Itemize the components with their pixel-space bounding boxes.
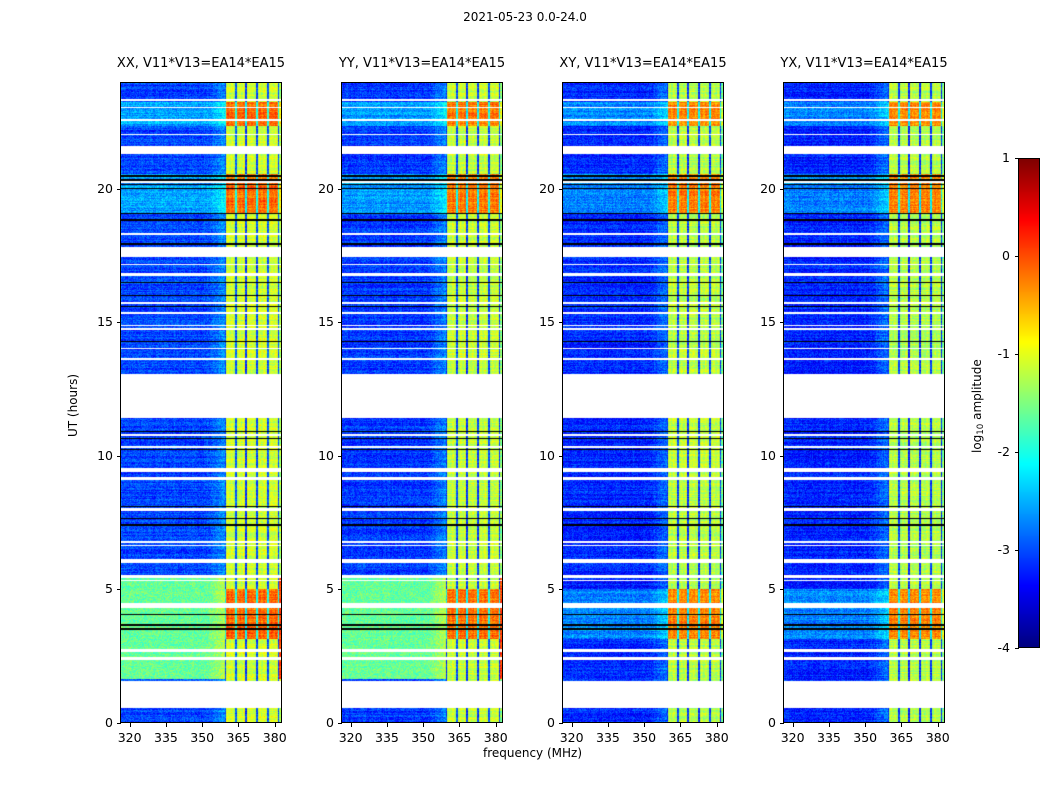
x-tick-label: 350 — [182, 730, 222, 745]
x-tick-label: 335 — [809, 730, 849, 745]
colorbar-tick-label: -3 — [974, 542, 1010, 557]
waterfall-image-xy — [563, 83, 723, 722]
x-tick-label: 365 — [218, 730, 258, 745]
y-tick-label: 20 — [522, 181, 555, 196]
y-tick-mark — [117, 456, 121, 457]
x-tick-label: 320 — [331, 730, 371, 745]
y-tick-mark — [117, 589, 121, 590]
y-tick-label: 15 — [743, 314, 776, 329]
y-tick-mark — [117, 322, 121, 323]
x-tick-mark — [572, 723, 573, 727]
colorbar-tick-mark — [1015, 452, 1019, 453]
x-tick-label: 350 — [845, 730, 885, 745]
x-tick-mark — [387, 723, 388, 727]
colorbar-label-subscript: 10 — [976, 424, 986, 435]
y-tick-label: 20 — [301, 181, 334, 196]
x-tick-label: 365 — [660, 730, 700, 745]
panel-title-xx: XX, V11*V13=EA14*EA15 — [117, 56, 285, 71]
y-tick-label: 5 — [80, 581, 113, 596]
panel-title-xy: XY, V11*V13=EA14*EA15 — [559, 56, 726, 71]
y-tick-mark — [559, 189, 563, 190]
y-tick-mark — [338, 589, 342, 590]
waterfall-image-xx — [121, 83, 281, 722]
x-tick-label: 320 — [110, 730, 150, 745]
x-tick-label: 365 — [881, 730, 921, 745]
y-tick-label: 10 — [522, 448, 555, 463]
colorbar-tick-label: -4 — [974, 640, 1010, 655]
x-tick-mark — [496, 723, 497, 727]
y-tick-mark — [780, 589, 784, 590]
figure-canvas: 2021-05-23 0.0-24.0 XX, V11*V13=EA14*EA1… — [0, 0, 1050, 800]
x-tick-label: 335 — [146, 730, 186, 745]
y-tick-label: 15 — [522, 314, 555, 329]
y-tick-label: 5 — [743, 581, 776, 596]
x-tick-label: 380 — [697, 730, 737, 745]
x-tick-mark — [644, 723, 645, 727]
colorbar-tick-mark — [1015, 256, 1019, 257]
colorbar-tick-mark — [1015, 648, 1019, 649]
x-tick-mark — [130, 723, 131, 727]
x-tick-label: 320 — [773, 730, 813, 745]
x-tick-label: 380 — [255, 730, 295, 745]
x-tick-mark — [351, 723, 352, 727]
x-tick-mark — [680, 723, 681, 727]
spectrum-panel-yx[interactable] — [783, 82, 945, 723]
y-tick-label: 10 — [80, 448, 113, 463]
x-tick-label: 380 — [918, 730, 958, 745]
x-tick-label: 335 — [367, 730, 407, 745]
panel-title-yy: YY, V11*V13=EA14*EA15 — [339, 56, 505, 71]
y-tick-label: 10 — [301, 448, 334, 463]
waterfall-image-yy — [342, 83, 502, 722]
y-tick-mark — [780, 189, 784, 190]
y-tick-mark — [559, 322, 563, 323]
x-axis-label: frequency (MHz) — [120, 746, 945, 760]
y-tick-mark — [338, 189, 342, 190]
colorbar-tick-label: 0 — [974, 248, 1010, 263]
x-tick-mark — [793, 723, 794, 727]
x-tick-mark — [423, 723, 424, 727]
colorbar-label-suffix: amplitude — [970, 359, 984, 423]
y-tick-label: 5 — [522, 581, 555, 596]
x-tick-mark — [608, 723, 609, 727]
x-tick-label: 350 — [624, 730, 664, 745]
y-tick-mark — [780, 322, 784, 323]
x-tick-mark — [938, 723, 939, 727]
y-axis-label: UT (hours) — [66, 373, 80, 436]
y-tick-label: 20 — [80, 181, 113, 196]
y-tick-mark — [338, 322, 342, 323]
colorbar-tick-label: 1 — [974, 150, 1010, 165]
figure-suptitle: 2021-05-23 0.0-24.0 — [0, 10, 1050, 24]
x-tick-label: 335 — [588, 730, 628, 745]
x-tick-mark — [166, 723, 167, 727]
y-tick-mark — [559, 456, 563, 457]
y-tick-label: 5 — [301, 581, 334, 596]
y-tick-mark — [780, 456, 784, 457]
x-tick-label: 380 — [476, 730, 516, 745]
y-tick-label: 0 — [743, 715, 776, 730]
waterfall-image-yx — [784, 83, 944, 722]
spectrum-panel-xy[interactable] — [562, 82, 724, 723]
y-tick-label: 0 — [80, 715, 113, 730]
colorbar-label-prefix: log — [970, 435, 984, 453]
panel-title-yx: YX, V11*V13=EA14*EA15 — [780, 56, 947, 71]
y-tick-label: 0 — [522, 715, 555, 730]
x-tick-mark — [901, 723, 902, 727]
x-tick-label: 320 — [552, 730, 592, 745]
y-tick-mark — [559, 723, 563, 724]
colorbar-gradient — [1019, 159, 1039, 647]
y-tick-mark — [117, 189, 121, 190]
y-tick-mark — [780, 723, 784, 724]
x-tick-mark — [202, 723, 203, 727]
y-tick-mark — [117, 723, 121, 724]
y-tick-mark — [338, 723, 342, 724]
x-tick-mark — [275, 723, 276, 727]
y-tick-label: 15 — [80, 314, 113, 329]
colorbar[interactable] — [1018, 158, 1040, 648]
y-tick-mark — [338, 456, 342, 457]
y-tick-mark — [559, 589, 563, 590]
colorbar-tick-mark — [1015, 158, 1019, 159]
y-tick-label: 20 — [743, 181, 776, 196]
x-tick-label: 365 — [439, 730, 479, 745]
x-tick-mark — [238, 723, 239, 727]
spectrum-panel-yy[interactable] — [341, 82, 503, 723]
x-tick-mark — [865, 723, 866, 727]
colorbar-axis-label: log10 amplitude — [970, 359, 986, 453]
x-tick-mark — [829, 723, 830, 727]
x-tick-label: 350 — [403, 730, 443, 745]
y-tick-label: 0 — [301, 715, 334, 730]
colorbar-tick-mark — [1015, 354, 1019, 355]
colorbar-tick-mark — [1015, 550, 1019, 551]
x-tick-mark — [459, 723, 460, 727]
y-tick-label: 10 — [743, 448, 776, 463]
spectrum-panel-xx[interactable] — [120, 82, 282, 723]
y-tick-label: 15 — [301, 314, 334, 329]
x-tick-mark — [717, 723, 718, 727]
